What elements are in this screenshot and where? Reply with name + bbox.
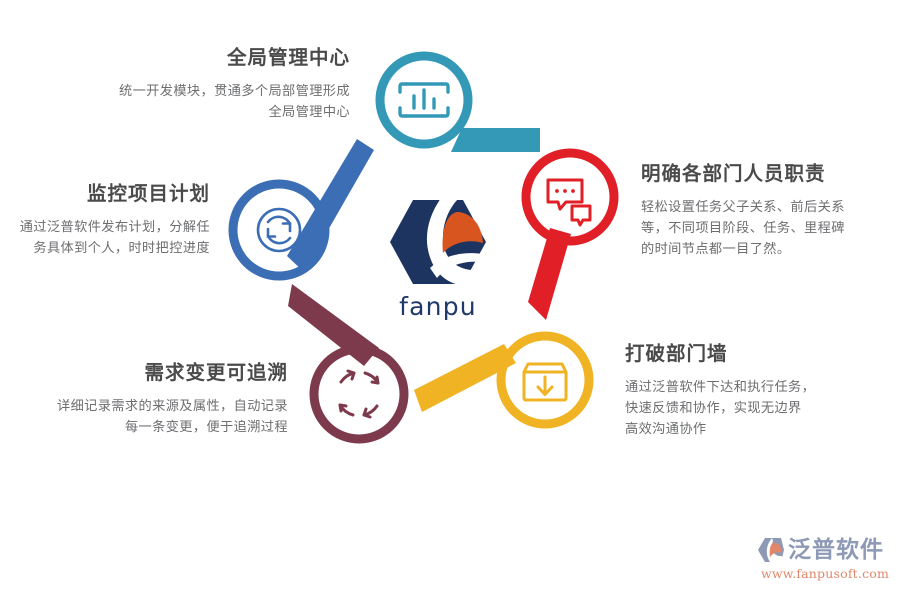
- cycle-arrows-icon: [340, 371, 378, 417]
- block-body-line: 通过泛普软件发布计划，分解任: [2, 217, 210, 238]
- block-body-line: 全局管理中心: [88, 102, 350, 123]
- block-body-line: 每一条变更，便于追溯过程: [26, 417, 288, 438]
- node-department-duty[interactable]: [526, 153, 614, 320]
- block-body-line: 通过泛普软件下达和执行任务，: [625, 377, 875, 398]
- block-body-line: 等，不同项目阶段、任务、里程碑: [641, 218, 893, 239]
- block-body-line: 务具体到个人，时时把控进度: [2, 238, 210, 259]
- block-body-line: 高效沟通协作: [625, 419, 875, 440]
- node-monitor-project-plan[interactable]: [233, 139, 374, 276]
- block-body-line: 详细记录需求的来源及属性，自动记录: [26, 396, 288, 417]
- fanpu-watermark-icon: [757, 537, 785, 563]
- center-brand-logo: fanpu: [383, 196, 493, 321]
- text-block-department-duty: 明确各部门人员职责 轻松设置任务父子关系、前后关系 等，不同项目阶段、任务、里程…: [641, 158, 893, 261]
- block-title: 打破部门墙: [625, 338, 875, 370]
- teal-tail: [451, 128, 540, 152]
- block-body-line: 统一开发模块，贯通多个局部管理形成: [88, 81, 350, 102]
- blue-tail: [287, 139, 374, 272]
- block-title: 需求变更可追溯: [26, 357, 288, 389]
- node-break-department-wall[interactable]: [414, 336, 589, 424]
- block-body: 详细记录需求的来源及属性，自动记录 每一条变更，便于追溯过程: [26, 396, 288, 439]
- fanpu-logo-icon: [383, 196, 493, 288]
- fanpusoft-watermark: 泛普软件 www.fanpusoft.com: [757, 537, 893, 589]
- block-body-line: 轻松设置任务父子关系、前后关系: [641, 197, 893, 218]
- fanpu-wordmark: fanpu: [383, 292, 493, 321]
- block-body-line: 快速反馈和协作，实现无边界: [625, 398, 875, 419]
- block-title: 监控项目计划: [2, 178, 210, 210]
- watermark-brand: 泛普软件: [788, 539, 884, 562]
- maroon-ring: [314, 349, 404, 439]
- block-body: 统一开发模块，贯通多个局部管理形成 全局管理中心: [88, 81, 350, 124]
- chat-bubbles-icon: [548, 180, 590, 225]
- block-title: 全局管理中心: [88, 42, 350, 74]
- text-block-break-department-wall: 打破部门墙 通过泛普软件下达和执行任务， 快速反馈和协作，实现无边界 高效沟通协…: [625, 338, 875, 441]
- block-body: 通过泛普软件发布计划，分解任 务具体到个人，时时把控进度: [2, 217, 210, 260]
- block-body: 通过泛普软件下达和执行任务， 快速反馈和协作，实现无边界 高效沟通协作: [625, 377, 875, 441]
- red-ring: [526, 153, 614, 241]
- box-download-icon: [524, 364, 566, 400]
- block-body-line: 的时间节点都一目了然。: [641, 239, 893, 260]
- bar-chart-frame-icon: [400, 84, 448, 116]
- text-block-monitor-project-plan: 监控项目计划 通过泛普软件发布计划，分解任 务具体到个人，时时把控进度: [2, 178, 210, 259]
- block-title: 明确各部门人员职责: [641, 158, 893, 190]
- text-block-global-management-center: 全局管理中心 统一开发模块，贯通多个局部管理形成 全局管理中心: [88, 42, 350, 123]
- node-global-management-center[interactable]: [380, 56, 540, 152]
- watermark-url: www.fanpusoft.com: [757, 566, 893, 581]
- text-block-requirement-change-traceable: 需求变更可追溯 详细记录需求的来源及属性，自动记录 每一条变更，便于追溯过程: [26, 357, 288, 438]
- refresh-sync-icon: [258, 209, 300, 251]
- block-body: 轻松设置任务父子关系、前后关系 等，不同项目阶段、任务、里程碑 的时间节点都一目…: [641, 197, 893, 261]
